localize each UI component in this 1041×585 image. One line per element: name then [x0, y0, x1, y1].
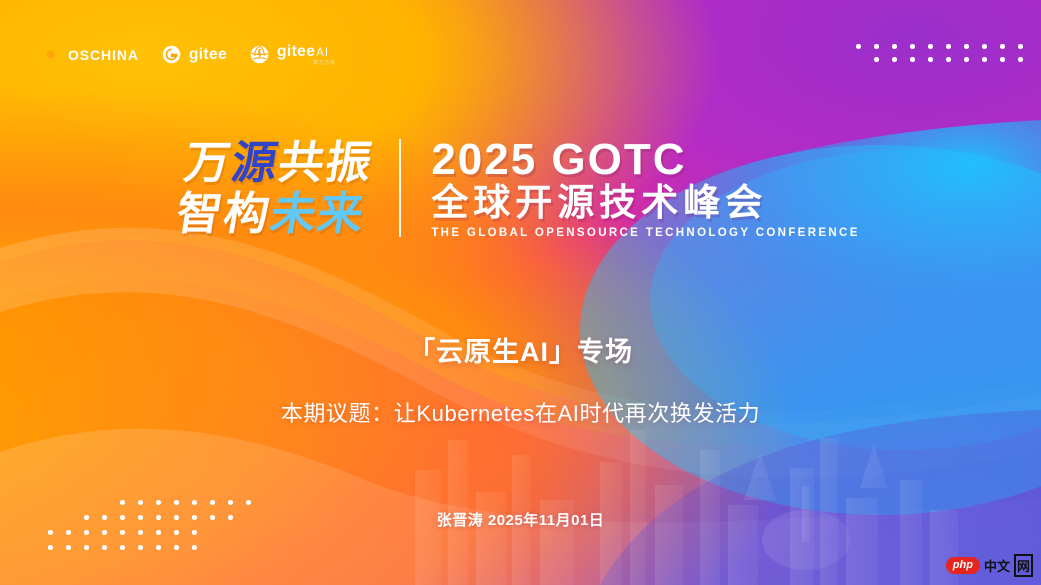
decor-dot: [964, 44, 969, 49]
decor-dot: [228, 500, 233, 505]
hero-lockup: 万源共振 智构未来 2025 GOTC 全球开源技术峰会 THE GLOBAL …: [0, 118, 1041, 258]
logo-gitee-ai-label: gitee: [277, 44, 315, 60]
gitee-g-icon: [161, 44, 182, 65]
decor-dot: [910, 57, 915, 62]
decor-dot: [138, 500, 143, 505]
conference-title-cn: 全球开源技术峰会: [431, 183, 767, 224]
decor-dot: [946, 57, 951, 62]
decor-dot: [102, 545, 107, 550]
decor-dot: [66, 545, 71, 550]
decor-dot: [982, 57, 987, 62]
decor-dot: [174, 500, 179, 505]
brand-logo-bar: OSCHINA gitee gitee AI 算力方舟: [40, 44, 335, 66]
session-title: 「云原生AI」专场: [0, 330, 1041, 369]
decor-dot: [48, 530, 53, 535]
hero-divider: [399, 139, 401, 237]
decor-dot: [946, 44, 951, 49]
decor-dot: [120, 545, 125, 550]
decor-dot: [192, 500, 197, 505]
decor-dot: [120, 500, 125, 505]
decor-dot: [156, 545, 161, 550]
gitee-ai-globe-icon: [249, 44, 270, 65]
decor-dot: [892, 57, 897, 62]
decor-dot: [874, 57, 879, 62]
speaker-and-date: 张晋涛 2025年11月01日: [0, 509, 1041, 530]
decor-dot: [1018, 44, 1023, 49]
decor-dot: [1000, 57, 1005, 62]
decor-dot: [138, 545, 143, 550]
decor-dot: [138, 530, 143, 535]
slogan-block: 万源共振 智构未来: [174, 140, 377, 236]
oschina-c-icon: [40, 44, 61, 65]
decor-dot: [874, 44, 879, 49]
decor-dot: [48, 545, 53, 550]
slogan-seg-accent: 未来: [267, 188, 369, 239]
logo-oschina-label: OSCHINA: [68, 48, 139, 62]
decor-dot: [210, 500, 215, 505]
dot-pattern-top-right: [856, 44, 1016, 70]
logo-gitee[interactable]: gitee: [161, 44, 227, 65]
logo-oschina[interactable]: OSCHINA: [40, 44, 139, 65]
decor-dot: [928, 57, 933, 62]
watermark-boxed-char: 网: [1014, 554, 1033, 577]
decor-dot: [174, 545, 179, 550]
decor-dot: [120, 530, 125, 535]
slogan-seg: 智构: [173, 188, 275, 239]
decor-dot: [1018, 57, 1023, 62]
decor-dot: [84, 530, 89, 535]
slogan-line-1: 万源共振: [182, 140, 377, 185]
decor-dot: [964, 57, 969, 62]
php-badge: php: [946, 557, 980, 575]
conference-title-en: 2025 GOTC: [431, 137, 686, 183]
decor-dot: [246, 500, 251, 505]
slogan-seg: 共振: [275, 137, 377, 188]
decor-dot: [84, 545, 89, 550]
conference-title-block: 2025 GOTC 全球开源技术峰会 THE GLOBAL OPENSOURCE…: [431, 137, 859, 239]
watermark-text: 中文: [984, 556, 1010, 575]
logo-gitee-ai-suffix: AI: [316, 48, 329, 60]
conference-slide: OSCHINA gitee gitee AI 算力方舟: [0, 0, 1041, 585]
decor-dot: [1000, 44, 1005, 49]
decor-dot: [928, 44, 933, 49]
decor-dot: [192, 545, 197, 550]
decor-dot: [174, 530, 179, 535]
logo-gitee-ai[interactable]: gitee AI 算力方舟: [249, 44, 335, 66]
decor-dot: [982, 44, 987, 49]
background-waves: [0, 0, 1041, 585]
decor-dot: [856, 44, 861, 49]
decor-dot: [156, 530, 161, 535]
site-watermark: php 中文 网: [946, 554, 1033, 577]
decor-dot: [66, 530, 71, 535]
decor-dot: [156, 500, 161, 505]
decor-dot: [910, 44, 915, 49]
slogan-line-2: 智构未来: [174, 191, 369, 236]
logo-gitee-label: gitee: [189, 47, 227, 63]
decor-dot: [102, 530, 107, 535]
decor-dot: [892, 44, 897, 49]
conference-subtitle: THE GLOBAL OPENSOURCE TECHNOLOGY CONFERE…: [431, 227, 859, 239]
decor-dot: [192, 530, 197, 535]
session-topic: 本期议题：让Kubernetes在AI时代再次换发活力: [0, 396, 1041, 428]
logo-gitee-ai-subtitle: 算力方舟: [313, 61, 335, 66]
